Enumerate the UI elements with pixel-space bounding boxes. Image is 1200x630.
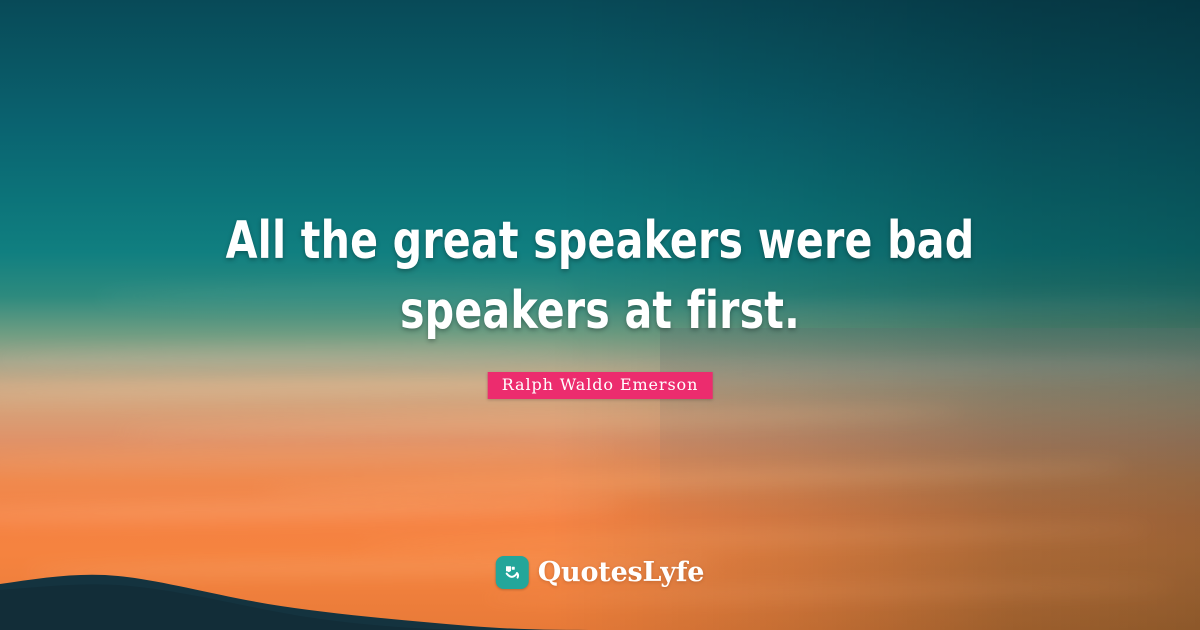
author-badge: Ralph Waldo Emerson [488,372,713,399]
brand-logo[interactable]: QuotesLyfe [496,556,705,589]
quote-text: All the great speakers were bad speakers… [169,206,1031,346]
brand-name: QuotesLyfe [538,557,705,588]
card-content: All the great speakers were bad speakers… [0,0,1200,630]
quote-card: All the great speakers were bad speakers… [0,0,1200,630]
quote-smiley-icon [496,556,529,589]
